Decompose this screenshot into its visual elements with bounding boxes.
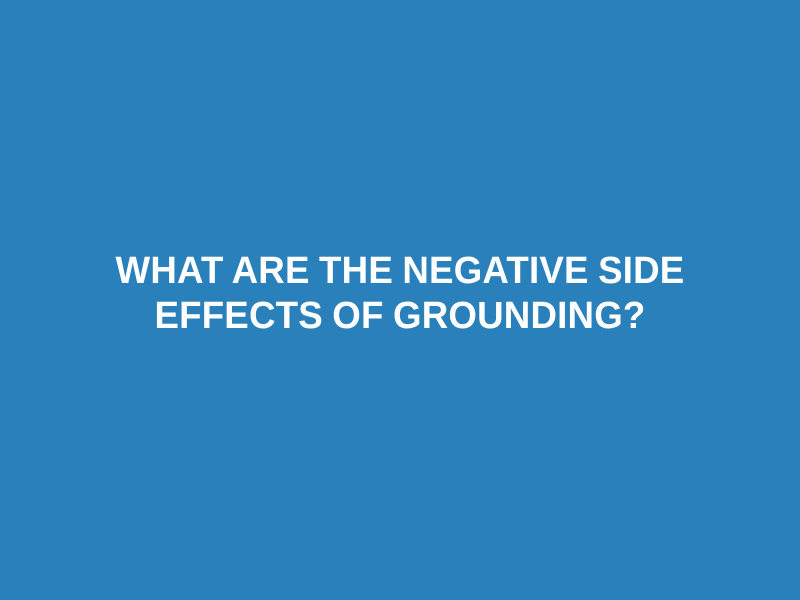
headline-block: What are the negative side effects of gr…	[50, 249, 750, 339]
title-card: What are the negative side effects of gr…	[0, 0, 800, 600]
page-title: What are the negative side effects of gr…	[62, 249, 738, 339]
